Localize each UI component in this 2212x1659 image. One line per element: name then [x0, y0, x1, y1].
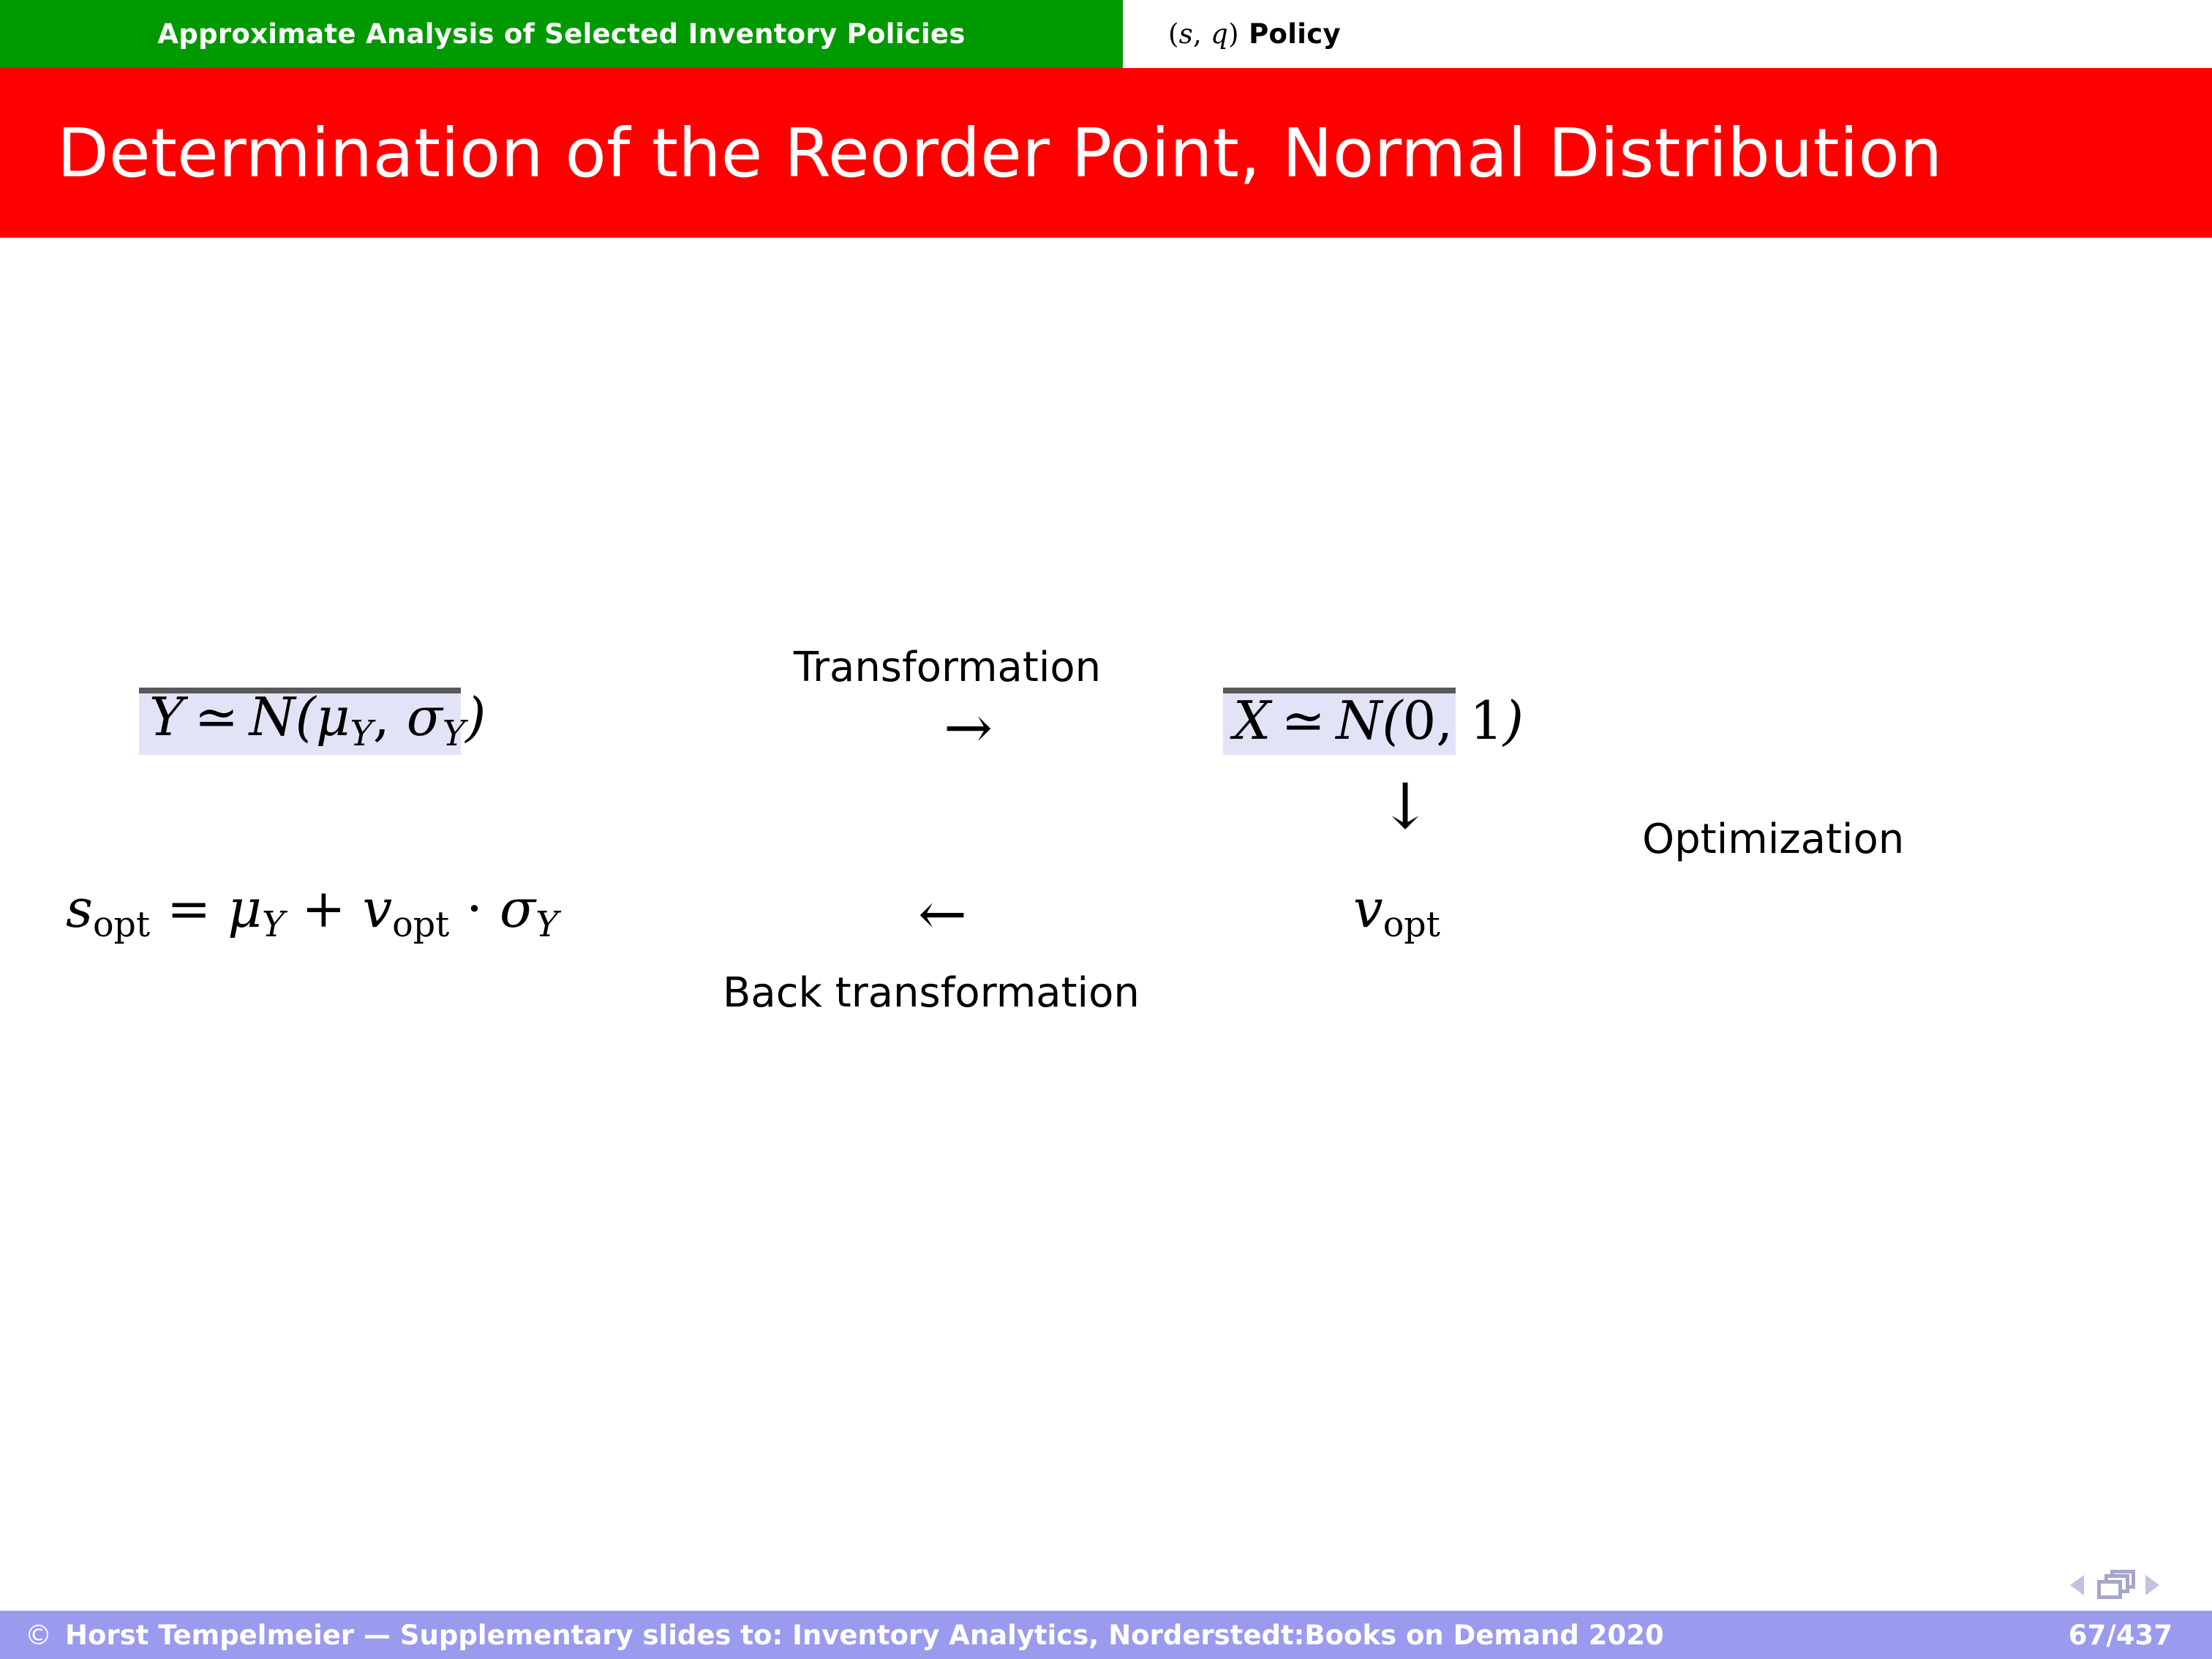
- slide-navigation-controls[interactable]: [2070, 1565, 2187, 1605]
- reorder-point-formula: sopt = μY + vopt · σY: [66, 881, 558, 944]
- footer-bar: © Horst Tempelmeier — Supplementary slid…: [0, 1611, 2212, 1659]
- source-distribution-formula: Y ≃ N(μY, σY): [149, 690, 486, 752]
- formula-separator: ,: [373, 686, 407, 748]
- triangle-right-icon[interactable]: [2145, 1575, 2159, 1595]
- formula-sigma-subscript: Y: [443, 716, 465, 753]
- subsection-policy-label: Policy: [1249, 18, 1341, 50]
- header-bar: Approximate Analysis of Selected Invento…: [0, 0, 2212, 68]
- formula-var-X: X: [1233, 690, 1271, 751]
- paren-close: ): [1228, 18, 1239, 50]
- formula-mean-0: 0: [1402, 690, 1436, 751]
- standard-normal-box: X ≃ N(0, 1): [1223, 688, 1456, 755]
- formula-s: s: [66, 878, 93, 939]
- paren-open: (: [1168, 18, 1179, 50]
- slide-content: Transformation Y ≃ N(μY, σY) → X ≃ N(0, …: [0, 238, 2212, 1571]
- formula-v: v: [362, 878, 392, 939]
- formula-rel-approx-2: ≃: [1282, 690, 1325, 751]
- subsection-word: [1239, 18, 1249, 50]
- page-number: 67/437: [2069, 1619, 2172, 1651]
- math-s: s: [1179, 18, 1193, 50]
- formula-equals: =: [167, 878, 211, 939]
- v-opt-value: vopt: [1353, 881, 1440, 944]
- triangle-left-icon[interactable]: [2070, 1575, 2084, 1595]
- formula-mu-subscript-2: Y: [262, 907, 285, 944]
- formula-sd-1: 1: [1470, 690, 1503, 751]
- v-opt-var: v: [1353, 878, 1383, 939]
- formula-plus: +: [301, 878, 345, 939]
- transformation-arrow-right-icon: →: [944, 699, 993, 757]
- formula-mu: μ: [316, 686, 350, 748]
- footer-credit-text: Horst Tempelmeier — Supplementary slides…: [65, 1619, 1664, 1651]
- header-tab-section[interactable]: Approximate Analysis of Selected Invento…: [0, 0, 1123, 68]
- standard-normal-formula: X ≃ N(0, 1): [1233, 693, 1524, 749]
- formula-var-Y: Y: [149, 686, 184, 748]
- back-transformation-label: Back transformation: [723, 969, 1140, 1017]
- transformation-label: Transformation: [794, 644, 1101, 691]
- formula-separator-2: ,: [1436, 690, 1470, 751]
- optimization-arrow-down-icon: ↓: [1379, 775, 1432, 838]
- copyright-icon: ©: [25, 1622, 52, 1649]
- math-comma: ,: [1193, 18, 1211, 50]
- title-bar: Determination of the Reorder Point, Norm…: [0, 68, 2212, 238]
- source-distribution-box: Y ≃ N(μY, σY): [139, 688, 461, 755]
- header-tab-section-label: Approximate Analysis of Selected Invento…: [157, 18, 965, 50]
- formula-close-paren-2: ): [1503, 690, 1524, 751]
- formula-v-subscript: opt: [392, 907, 449, 944]
- slides-stack-layer-front: [2097, 1580, 2122, 1599]
- header-tab-subsection[interactable]: (s, q) Policy: [1123, 0, 1372, 68]
- formula-rel-approx: ≃: [195, 686, 238, 748]
- formula-sigma-2: σ: [500, 878, 535, 939]
- footer-credit: © Horst Tempelmeier — Supplementary slid…: [25, 1619, 1664, 1651]
- formula-dist-N: N(: [249, 686, 316, 748]
- formula-mu-subscript: Y: [350, 716, 373, 753]
- formula-close-paren: ): [465, 686, 486, 748]
- formula-cdot: ·: [466, 878, 483, 939]
- formula-sigma: σ: [407, 686, 443, 748]
- slides-stack-icon[interactable]: [2094, 1570, 2135, 1600]
- optimization-label: Optimization: [1642, 816, 1904, 863]
- header-tab-subsection-label: (s, q) Policy: [1168, 18, 1341, 50]
- formula-mu-2: μ: [227, 878, 262, 939]
- formula-dist-N-2: N(: [1336, 690, 1402, 751]
- formula-s-subscript: opt: [93, 907, 150, 944]
- formula-sigma-subscript-2: Y: [535, 907, 558, 944]
- v-opt-subscript: opt: [1383, 907, 1440, 944]
- page-title: Determination of the Reorder Point, Norm…: [0, 114, 1943, 192]
- math-q: q: [1211, 18, 1228, 50]
- back-transformation-arrow-left-icon: ←: [918, 885, 967, 944]
